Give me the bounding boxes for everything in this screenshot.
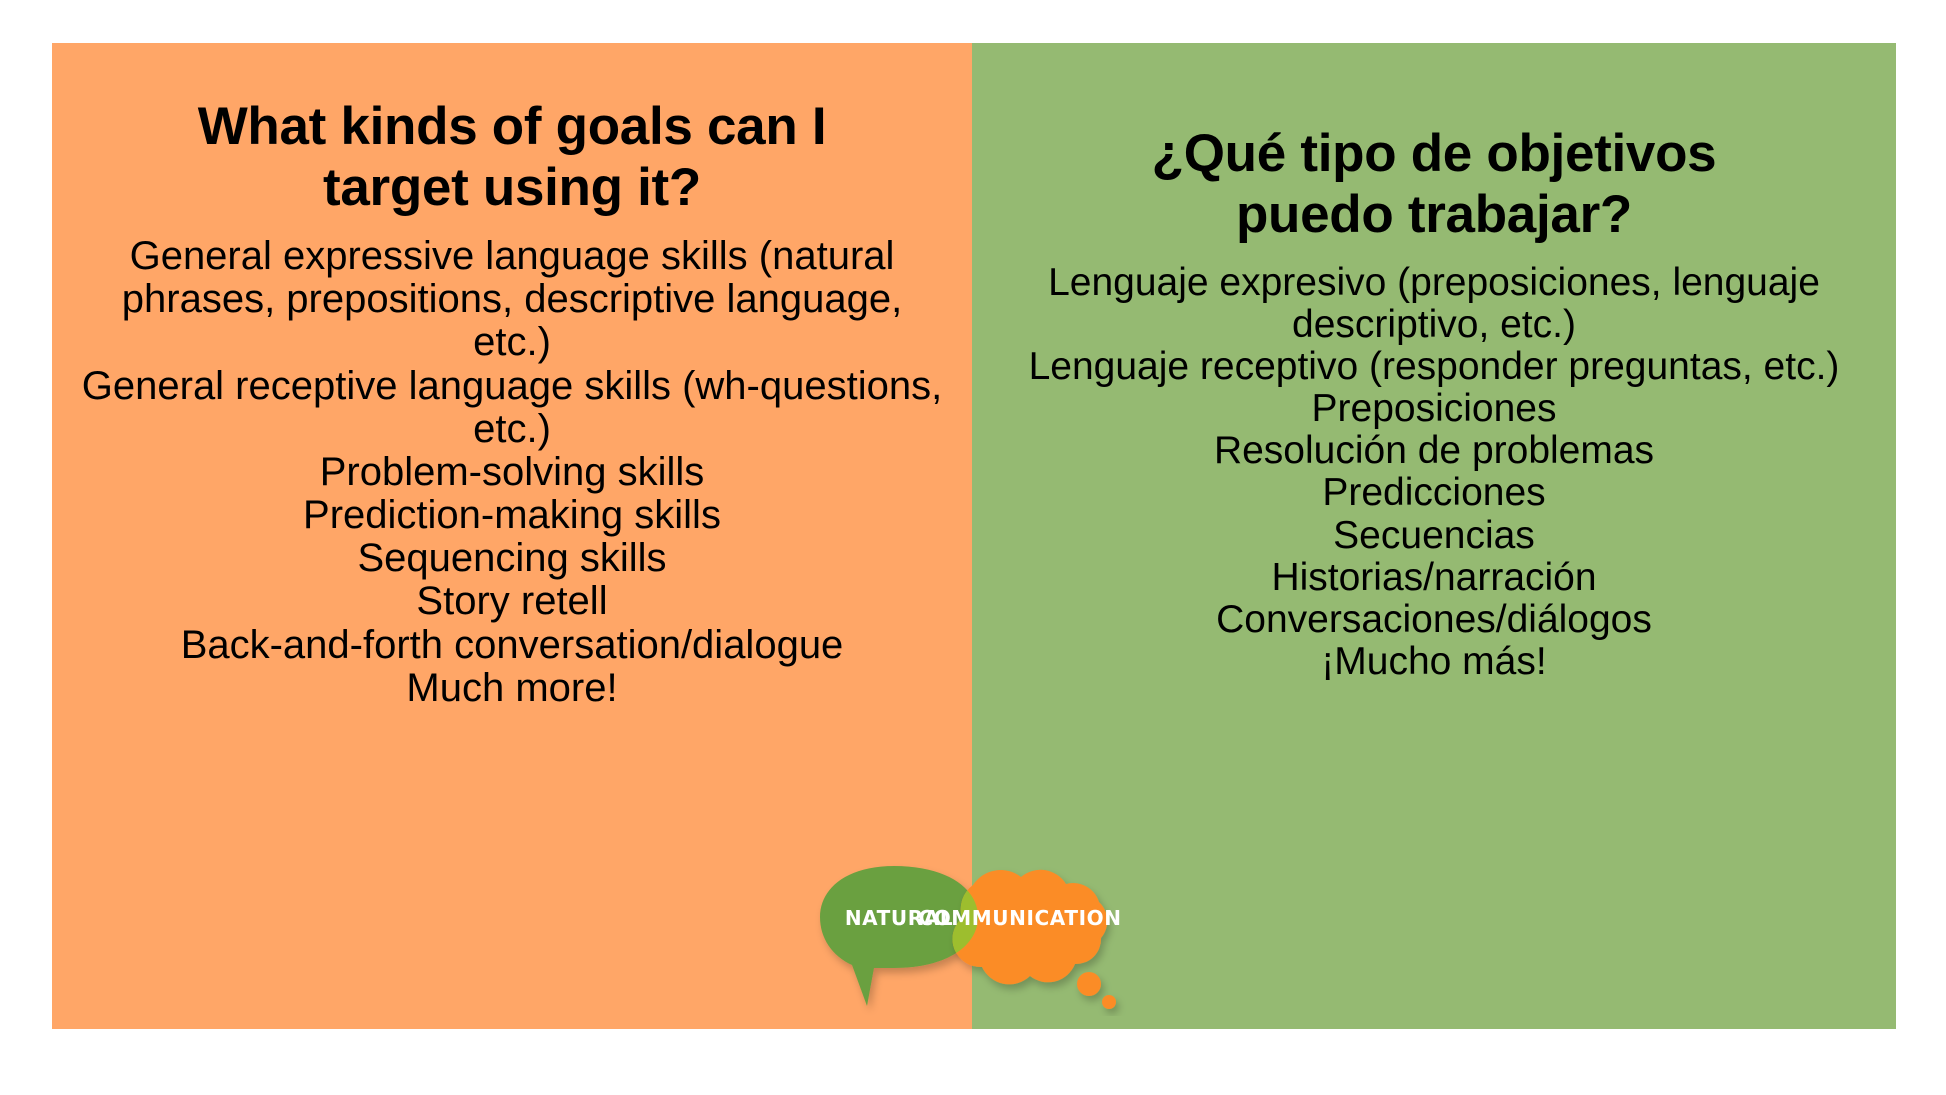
left-panel-heading: What kinds of goals can I target using i… [80,96,944,219]
list-item: Preposiciones [996,388,1872,430]
right-panel-heading: ¿Qué tipo de objetivos puedo trabajar? [996,123,1872,246]
right-panel-goal-list: Lenguaje expresivo (preposiciones, lengu… [996,262,1872,683]
list-item: Predicciones [996,472,1872,514]
list-item: Lenguaje expresivo (preposiciones, lengu… [996,262,1872,346]
natural-communication-logo: NATURAL COMMUNICATION [812,856,1134,1016]
list-item: Prediction-making skills [80,494,944,537]
right-panel-content: ¿Qué tipo de objetivos puedo trabajar? L… [972,123,1896,683]
thought-dot-large [1077,972,1101,996]
thought-cloud-shape [952,870,1116,1009]
list-item: Sequencing skills [80,537,944,580]
list-item: Problem-solving skills [80,451,944,494]
list-item: Much more! [80,667,944,710]
thought-dot-small [1102,995,1116,1009]
list-item: Back-and-forth conversation/dialogue [80,624,944,667]
left-panel-content: What kinds of goals can I target using i… [52,96,972,710]
list-item: Resolución de problemas [996,430,1872,472]
list-item: Story retell [80,580,944,623]
list-item: General expressive language skills (natu… [80,235,944,365]
slide-canvas: What kinds of goals can I target using i… [0,0,1946,1095]
logo-word-communication: COMMUNICATION [918,906,1121,930]
list-item: Conversaciones/diálogos [996,599,1872,641]
list-item: Secuencias [996,515,1872,557]
list-item: General receptive language skills (wh-qu… [80,365,944,451]
left-panel-goal-list: General expressive language skills (natu… [80,235,944,710]
list-item: ¡Mucho más! [996,641,1872,683]
list-item: Lenguaje receptivo (responder preguntas,… [996,346,1872,388]
list-item: Historias/narración [996,557,1872,599]
